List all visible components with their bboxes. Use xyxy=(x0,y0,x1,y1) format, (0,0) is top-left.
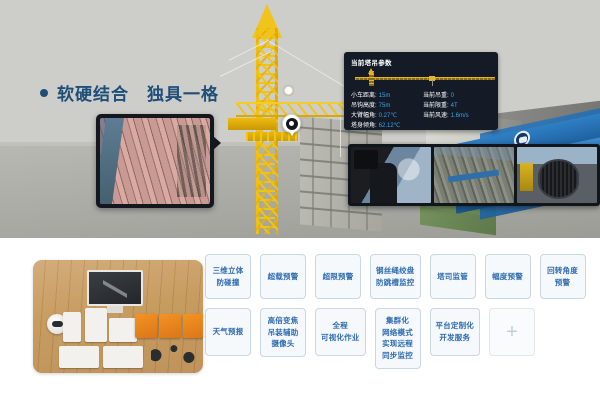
tag-overload-alarm[interactable]: 超载预警 xyxy=(260,254,306,299)
tag-line: 实现远程 xyxy=(382,338,413,350)
feature-tag-row-2: 天气预报 高倍变焦 吊装辅助 摄像头 全程 可视化作业 集群化 网络模式 xyxy=(205,308,595,369)
tag-line: 预警 xyxy=(547,277,578,289)
tag-wire-rope-monitoring[interactable]: 钢丝绳绞盘 防跳槽监控 xyxy=(370,254,421,299)
param-label: 当前风速: xyxy=(423,110,449,119)
product-monitor-stand xyxy=(107,306,123,313)
tag-custom-development[interactable]: 平台定制化 开发服务 xyxy=(430,308,481,356)
param-wind-speed: 当前风速: 1.6m/s xyxy=(423,110,491,119)
feature-tag-row-1: 三维立体 防碰撞 超载预警 超限预警 钢丝绳绞盘 防跳槽监控 塔司监管 幅度预警 xyxy=(205,254,595,299)
product-device xyxy=(63,312,81,342)
bullet-dot-icon xyxy=(40,89,48,97)
sensor-dot-icon[interactable] xyxy=(284,86,293,95)
site-monitor[interactable] xyxy=(96,114,214,208)
page-title: 软硬结合 独具一格 xyxy=(40,80,219,105)
crane-hook-line xyxy=(340,117,341,157)
crane-mast-lattice xyxy=(256,28,278,234)
product-device xyxy=(59,346,99,368)
param-value: 62.12℃ xyxy=(379,122,401,129)
product-anemometer xyxy=(151,342,195,364)
winch-drum-feed[interactable] xyxy=(517,147,597,203)
param-label: 当前吊重: xyxy=(423,90,449,99)
tag-radius-alarm[interactable]: 幅度预警 xyxy=(485,254,531,299)
product-sensor-orange xyxy=(135,314,157,338)
tag-line: 天气预报 xyxy=(213,326,244,338)
param-value: 15m xyxy=(379,93,391,99)
aerial-site-photo xyxy=(100,118,210,204)
tag-line: 三维立体 xyxy=(213,265,244,277)
param-grid: 小车距离: 15m 当前吊重: 0 吊钩高度: 75m 当前限重: 4T 大臂幅… xyxy=(351,90,491,129)
tag-line: 高倍变焦 xyxy=(268,315,299,327)
tag-overlimit-alarm[interactable]: 超限预警 xyxy=(315,254,361,299)
tag-3d-anti-collision[interactable]: 三维立体 防碰撞 xyxy=(205,254,251,299)
aerial-site-feed[interactable] xyxy=(434,147,514,203)
param-value: 0 xyxy=(451,93,454,99)
tag-line: 吊装辅助 xyxy=(268,327,299,339)
param-jib-angle: 大臂幅角: 0.27℃ xyxy=(351,110,419,119)
crane-parameter-panel: 当前塔吊参数 小车距离: 15m 当前吊重: 0 吊钩高度: 75m 当前限重: xyxy=(344,52,498,130)
product-monitor xyxy=(87,270,143,306)
construction-scene: 当前塔吊参数 小车距离: 15m 当前吊重: 0 吊钩高度: 75m 当前限重: xyxy=(0,0,600,238)
param-trolley-distance: 小车距离: 15m xyxy=(351,90,419,99)
operator-cabin-feed[interactable] xyxy=(351,147,431,203)
param-panel-title: 当前塔吊参数 xyxy=(351,57,491,67)
tag-line: 开发服务 xyxy=(436,332,475,344)
tag-line: 钢丝绳绞盘 xyxy=(376,265,415,277)
tag-line: 可视化作业 xyxy=(321,332,360,344)
param-tower-tilt: 塔身倾角: 62.12℃ xyxy=(351,120,419,129)
param-value: 0.27℃ xyxy=(379,112,397,119)
tag-slew-angle-alarm[interactable]: 回转角度 预警 xyxy=(540,254,586,299)
param-label: 吊钩高度: xyxy=(351,100,377,109)
tag-line: 全程 xyxy=(321,320,360,332)
param-load-limit: 当前限重: 4T xyxy=(423,100,491,109)
tag-line: 集群化 xyxy=(382,315,413,327)
tag-line: 超限预警 xyxy=(323,271,354,283)
camera-feed-strip xyxy=(348,144,600,206)
param-crane-diagram xyxy=(351,70,491,87)
tag-line: 网络模式 xyxy=(382,327,413,339)
param-label: 小车距离: xyxy=(351,90,377,99)
param-hook-height: 吊钩高度: 75m xyxy=(351,100,419,109)
param-label: 大臂幅角: xyxy=(351,110,377,119)
hardware-kit-photo xyxy=(33,260,203,373)
tag-zoom-camera[interactable]: 高倍变焦 吊装辅助 摄像头 xyxy=(260,308,306,357)
product-device xyxy=(85,308,107,342)
tag-line: 超载预警 xyxy=(268,271,299,283)
tag-operator-supervision[interactable]: 塔司监管 xyxy=(430,254,476,299)
product-device xyxy=(103,346,143,368)
tag-full-visual-operation[interactable]: 全程 可视化作业 xyxy=(315,308,366,356)
tag-line: 塔司监管 xyxy=(437,271,468,283)
product-device xyxy=(109,318,137,342)
product-sensor-orange xyxy=(159,314,181,338)
tag-line: 幅度预警 xyxy=(492,271,523,283)
tag-line: 回转角度 xyxy=(547,265,578,277)
tag-cluster-remote-monitoring[interactable]: 集群化 网络模式 实现远程 同步监控 xyxy=(375,308,421,369)
param-label: 塔身倾角: xyxy=(351,120,377,129)
tag-line: 防碰撞 xyxy=(213,277,244,289)
tag-line: 平台定制化 xyxy=(436,320,475,332)
tag-line: 同步监控 xyxy=(382,350,413,362)
tag-weather-forecast[interactable]: 天气预报 xyxy=(205,308,251,356)
camera-pin-icon[interactable] xyxy=(282,114,301,133)
param-value: 4T xyxy=(451,103,458,109)
param-value: 1.6m/s xyxy=(451,113,469,119)
tag-line: 防跳槽监控 xyxy=(376,277,415,289)
param-value: 75m xyxy=(379,103,391,109)
param-current-load: 当前吊重: 0 xyxy=(423,90,491,99)
crane-counterweight xyxy=(228,118,276,130)
product-sensor-orange xyxy=(183,314,203,338)
camera-glyph xyxy=(286,118,298,130)
headline-text: 软硬结合 独具一格 xyxy=(57,80,219,105)
add-feature-button[interactable]: + xyxy=(489,308,535,356)
feature-tag-list: 三维立体 防碰撞 超载预警 超限预警 钢丝绳绞盘 防跳槽监控 塔司监管 幅度预警 xyxy=(205,254,595,378)
tag-line: 摄像头 xyxy=(268,338,299,350)
bottom-panel: 三维立体 防碰撞 超载预警 超限预警 钢丝绳绞盘 防跳槽监控 塔司监管 幅度预警 xyxy=(0,238,600,400)
param-label: 当前限重: xyxy=(423,100,449,109)
